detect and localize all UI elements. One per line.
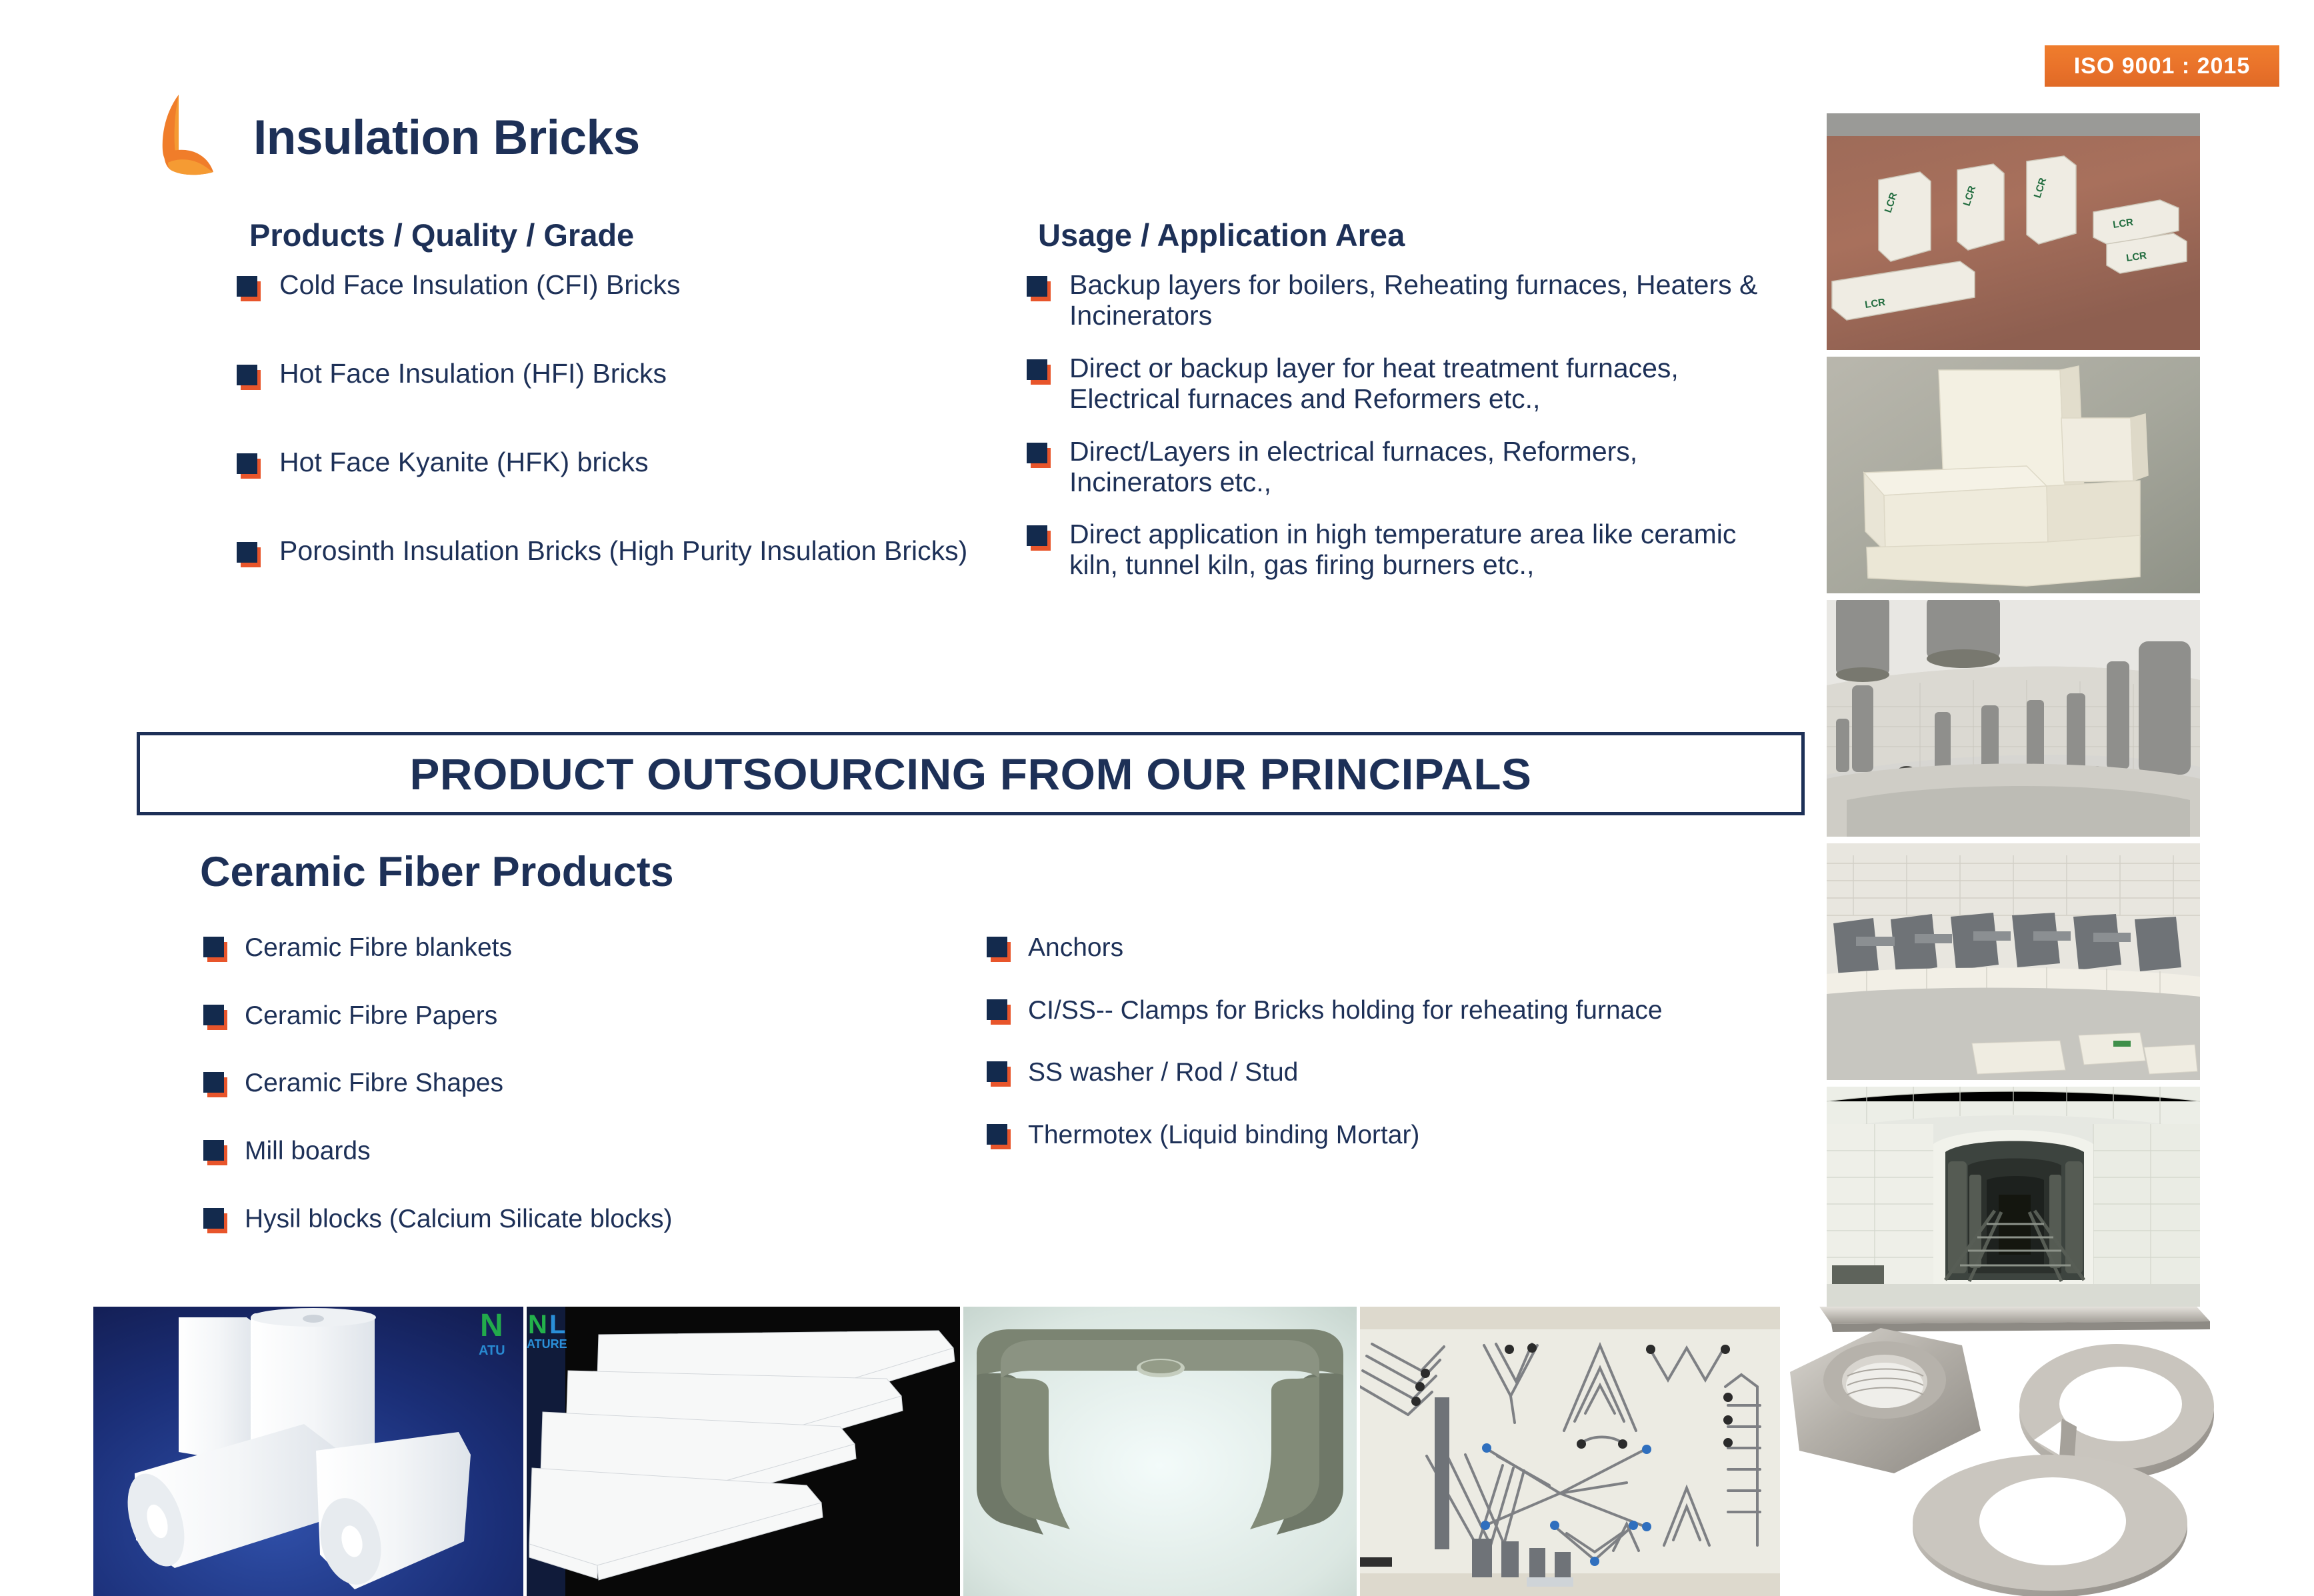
list-item-label: Cold Face Insulation (CFI) Bricks [279, 270, 681, 301]
bottom-image-strip: N ATU [93, 1307, 2314, 1596]
list-item-label: Anchors [1028, 933, 1123, 963]
square-bullet-icon [987, 937, 1016, 962]
ceramic-fibre-shape-casting-photo [963, 1307, 1357, 1596]
svg-text:N: N [480, 1308, 503, 1343]
list-item: Direct or backup layer for heat treatmen… [1027, 353, 1787, 415]
list-item-label: Thermotex (Liquid binding Mortar) [1028, 1121, 1419, 1150]
square-bullet-icon [987, 1124, 1016, 1149]
square-bullet-icon [1027, 443, 1057, 469]
iso-badge-label: ISO 9001 : 2015 [2074, 53, 2251, 79]
list-item-label: SS washer / Rod / Stud [1028, 1058, 1298, 1087]
square-bullet-icon [237, 453, 267, 480]
square-bullet-icon [237, 542, 267, 569]
list-item: Porosinth Insulation Bricks (High Purity… [237, 536, 1003, 569]
product-outsourcing-banner: PRODUCT OUTSOURCING FROM OUR PRINCIPALS [137, 732, 1805, 815]
list-item-label: Porosinth Insulation Bricks (High Purity… [279, 536, 967, 567]
square-bullet-icon [203, 1072, 233, 1097]
ceramic-fibre-blanket-rolls-photo: N ATU [93, 1307, 523, 1596]
ceramic-fiber-left-list: Ceramic Fibre blankets Ceramic Fibre Pap… [203, 933, 990, 1272]
square-bullet-icon [1027, 525, 1057, 552]
iso-certification-badge: ISO 9001 : 2015 [2045, 45, 2279, 87]
list-item: Mill boards [203, 1137, 990, 1166]
list-item-label: CI/SS-- Clamps for Bricks holding for re… [1028, 996, 1663, 1025]
lcr-marked-insulation-bricks-photo: LCR LCR LCR LCR LCR LCR [1827, 113, 2200, 350]
list-item: Hot Face Kyanite (HFK) bricks [237, 447, 1003, 480]
list-item: Hot Face Insulation (HFI) Bricks [237, 359, 1003, 391]
square-bullet-icon [203, 1140, 233, 1165]
list-item-label: Mill boards [245, 1137, 371, 1166]
list-item-label: Direct or backup layer for heat treatmen… [1069, 353, 1776, 415]
svg-text:N: N [528, 1310, 547, 1339]
section-title: Ceramic Fiber Products [200, 848, 674, 896]
usage-column-heading: Usage / Application Area [1038, 217, 1405, 253]
list-item-label: Hot Face Insulation (HFI) Bricks [279, 359, 667, 389]
list-item: SS washer / Rod / Stud [987, 1058, 1787, 1087]
square-bullet-icon [1027, 359, 1057, 386]
list-item: Ceramic Fibre Shapes [203, 1069, 990, 1098]
list-item-label: Direct application in high temperature a… [1069, 519, 1776, 581]
list-item: Cold Face Insulation (CFI) Bricks [237, 270, 1003, 303]
products-column-heading: Products / Quality / Grade [249, 217, 634, 253]
list-item-label: Hysil blocks (Calcium Silicate blocks) [245, 1205, 672, 1234]
list-item-label: Direct/Layers in electrical furnaces, Re… [1069, 437, 1776, 498]
list-item-label: Ceramic Fibre Shapes [245, 1069, 503, 1098]
furnace-lining-with-grey-anchor-blocks-photo [1827, 843, 2200, 1080]
furnace-interior-with-cylindrical-burners-photo [1827, 600, 2200, 837]
svg-text:ATURE: ATURE [527, 1337, 567, 1351]
square-bullet-icon [1027, 276, 1057, 303]
brochure-page: ISO 9001 : 2015 Insulation Bricks Produc… [0, 0, 2314, 1596]
list-item: Ceramic Fibre Papers [203, 1001, 990, 1031]
list-item: CI/SS-- Clamps for Bricks holding for re… [987, 996, 1787, 1025]
list-item: Ceramic Fibre blankets [203, 933, 990, 963]
svg-text:L: L [549, 1310, 565, 1339]
anchors-display-board-photo [1360, 1307, 1780, 1596]
list-item: Direct application in high temperature a… [1027, 519, 1787, 581]
square-bullet-icon [203, 1208, 233, 1233]
ceramic-fibre-boards-stack-photo: N L ATURE [527, 1307, 960, 1596]
white-insulation-bricks-stack-photo [1827, 357, 2200, 593]
list-item: Anchors [987, 933, 1787, 963]
square-bullet-icon [237, 276, 267, 303]
list-item: Backup layers for boilers, Reheating fur… [1027, 270, 1787, 331]
list-item: Hysil blocks (Calcium Silicate blocks) [203, 1205, 990, 1234]
list-item: Thermotex (Liquid binding Mortar) [987, 1121, 1787, 1150]
square-bullet-icon [237, 365, 267, 391]
flame-leaf-logo [148, 93, 228, 177]
products-list: Cold Face Insulation (CFI) Bricks Hot Fa… [237, 270, 1003, 625]
ceramic-fiber-right-list: Anchors CI/SS-- Clamps for Bricks holdin… [987, 933, 1787, 1183]
tunnel-kiln-interior-photo [1827, 1087, 2200, 1307]
page-title: Insulation Bricks [253, 110, 640, 165]
banner-label: PRODUCT OUTSOURCING FROM OUR PRINCIPALS [410, 749, 1532, 799]
list-item-label: Hot Face Kyanite (HFK) bricks [279, 447, 649, 478]
list-item: Direct/Layers in electrical furnaces, Re… [1027, 437, 1787, 498]
list-item-label: Ceramic Fibre blankets [245, 933, 512, 963]
square-bullet-icon [987, 999, 1016, 1025]
ss-nut-washer-stud-photo [1783, 1307, 2314, 1596]
svg-text:ATU: ATU [479, 1343, 505, 1358]
square-bullet-icon [203, 1005, 233, 1030]
usage-list: Backup layers for boilers, Reheating fur… [1027, 270, 1787, 603]
list-item-label: Ceramic Fibre Papers [245, 1001, 497, 1031]
square-bullet-icon [987, 1061, 1016, 1087]
square-bullet-icon [203, 937, 233, 962]
list-item-label: Backup layers for boilers, Reheating fur… [1069, 270, 1776, 331]
